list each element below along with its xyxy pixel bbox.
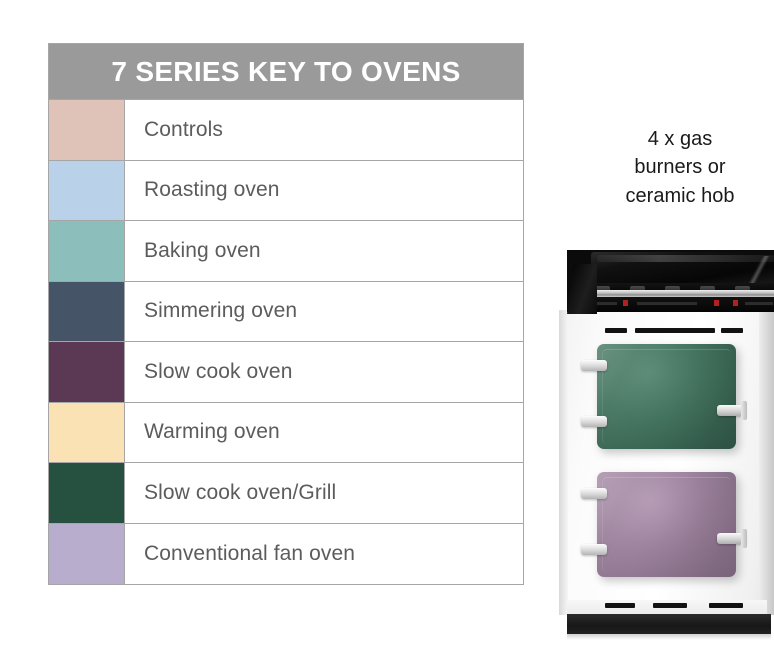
lower-door-hinge-bottom: [581, 544, 607, 555]
indicator-led-icon: [623, 300, 628, 306]
color-swatch-roasting-oven: [49, 161, 125, 221]
color-swatch-controls: [49, 100, 125, 160]
table-row: Roasting oven: [49, 161, 523, 222]
plinth-vent: [605, 603, 635, 608]
cooker-base: [567, 614, 771, 634]
control-slot: [745, 302, 773, 305]
color-swatch-conventional-fan-oven: [49, 524, 125, 585]
table-row: Warming oven: [49, 403, 523, 464]
key-to-ovens-table: 7 SERIES KEY TO OVENS Controls Roasting …: [48, 43, 524, 585]
plinth-vent: [653, 603, 687, 608]
cooker-body-left-edge: [559, 310, 568, 615]
color-swatch-warming-oven: [49, 403, 125, 463]
color-swatch-simmering-oven: [49, 282, 125, 342]
range-cooker-image: [559, 248, 774, 648]
hob-caption-line-2: burners or: [586, 153, 774, 181]
key-row-label: Conventional fan oven: [125, 524, 523, 585]
upper-oven-door: [597, 344, 736, 449]
cooker-body-right-edge: [759, 310, 774, 615]
hob-caption: 4 x gas burners or ceramic hob: [586, 125, 774, 210]
door-bevel: [602, 477, 731, 572]
upper-door-latch-tip: [741, 401, 747, 420]
hob-lid-reflection: [743, 256, 774, 284]
lower-oven-door: [597, 472, 736, 577]
key-row-label: Baking oven: [125, 221, 523, 281]
color-swatch-baking-oven: [49, 221, 125, 281]
hob-left-side-panel: [567, 264, 597, 314]
upper-door-hinge-top: [581, 360, 607, 371]
color-swatch-slow-cook-oven: [49, 342, 125, 402]
table-row: Controls: [49, 100, 523, 161]
table-row: Slow cook oven: [49, 342, 523, 403]
color-swatch-slow-cook-oven-grill: [49, 463, 125, 523]
key-row-label: Simmering oven: [125, 282, 523, 342]
control-slot: [637, 302, 697, 305]
key-row-label: Warming oven: [125, 403, 523, 463]
plinth-panel: [567, 600, 767, 614]
hob-caption-line-1: 4 x gas: [586, 125, 774, 153]
gas-hob-assembly: [567, 250, 774, 312]
hob-trim-rail: [576, 290, 774, 297]
oven-vent: [635, 328, 715, 333]
plinth-vent: [709, 603, 743, 608]
key-row-label: Controls: [125, 100, 523, 160]
oven-vent: [721, 328, 743, 333]
control-panel: [577, 297, 774, 312]
cooker-base-shadow: [567, 634, 771, 640]
lower-door-hinge-top: [581, 488, 607, 499]
key-row-label: Slow cook oven: [125, 342, 523, 402]
upper-door-hinge-bottom: [581, 416, 607, 427]
hob-caption-line-3: ceramic hob: [586, 182, 774, 210]
key-row-label: Slow cook oven/Grill: [125, 463, 523, 523]
indicator-led-icon: [733, 300, 738, 306]
table-row: Conventional fan oven: [49, 524, 523, 585]
table-row: Slow cook oven/Grill: [49, 463, 523, 524]
indicator-led-icon: [714, 300, 719, 306]
lower-door-latch-tip: [741, 529, 747, 548]
door-bevel: [602, 349, 731, 444]
table-row: Baking oven: [49, 221, 523, 282]
oven-vent: [605, 328, 627, 333]
table-row: Simmering oven: [49, 282, 523, 343]
key-row-label: Roasting oven: [125, 161, 523, 221]
key-table-title: 7 SERIES KEY TO OVENS: [49, 44, 523, 100]
